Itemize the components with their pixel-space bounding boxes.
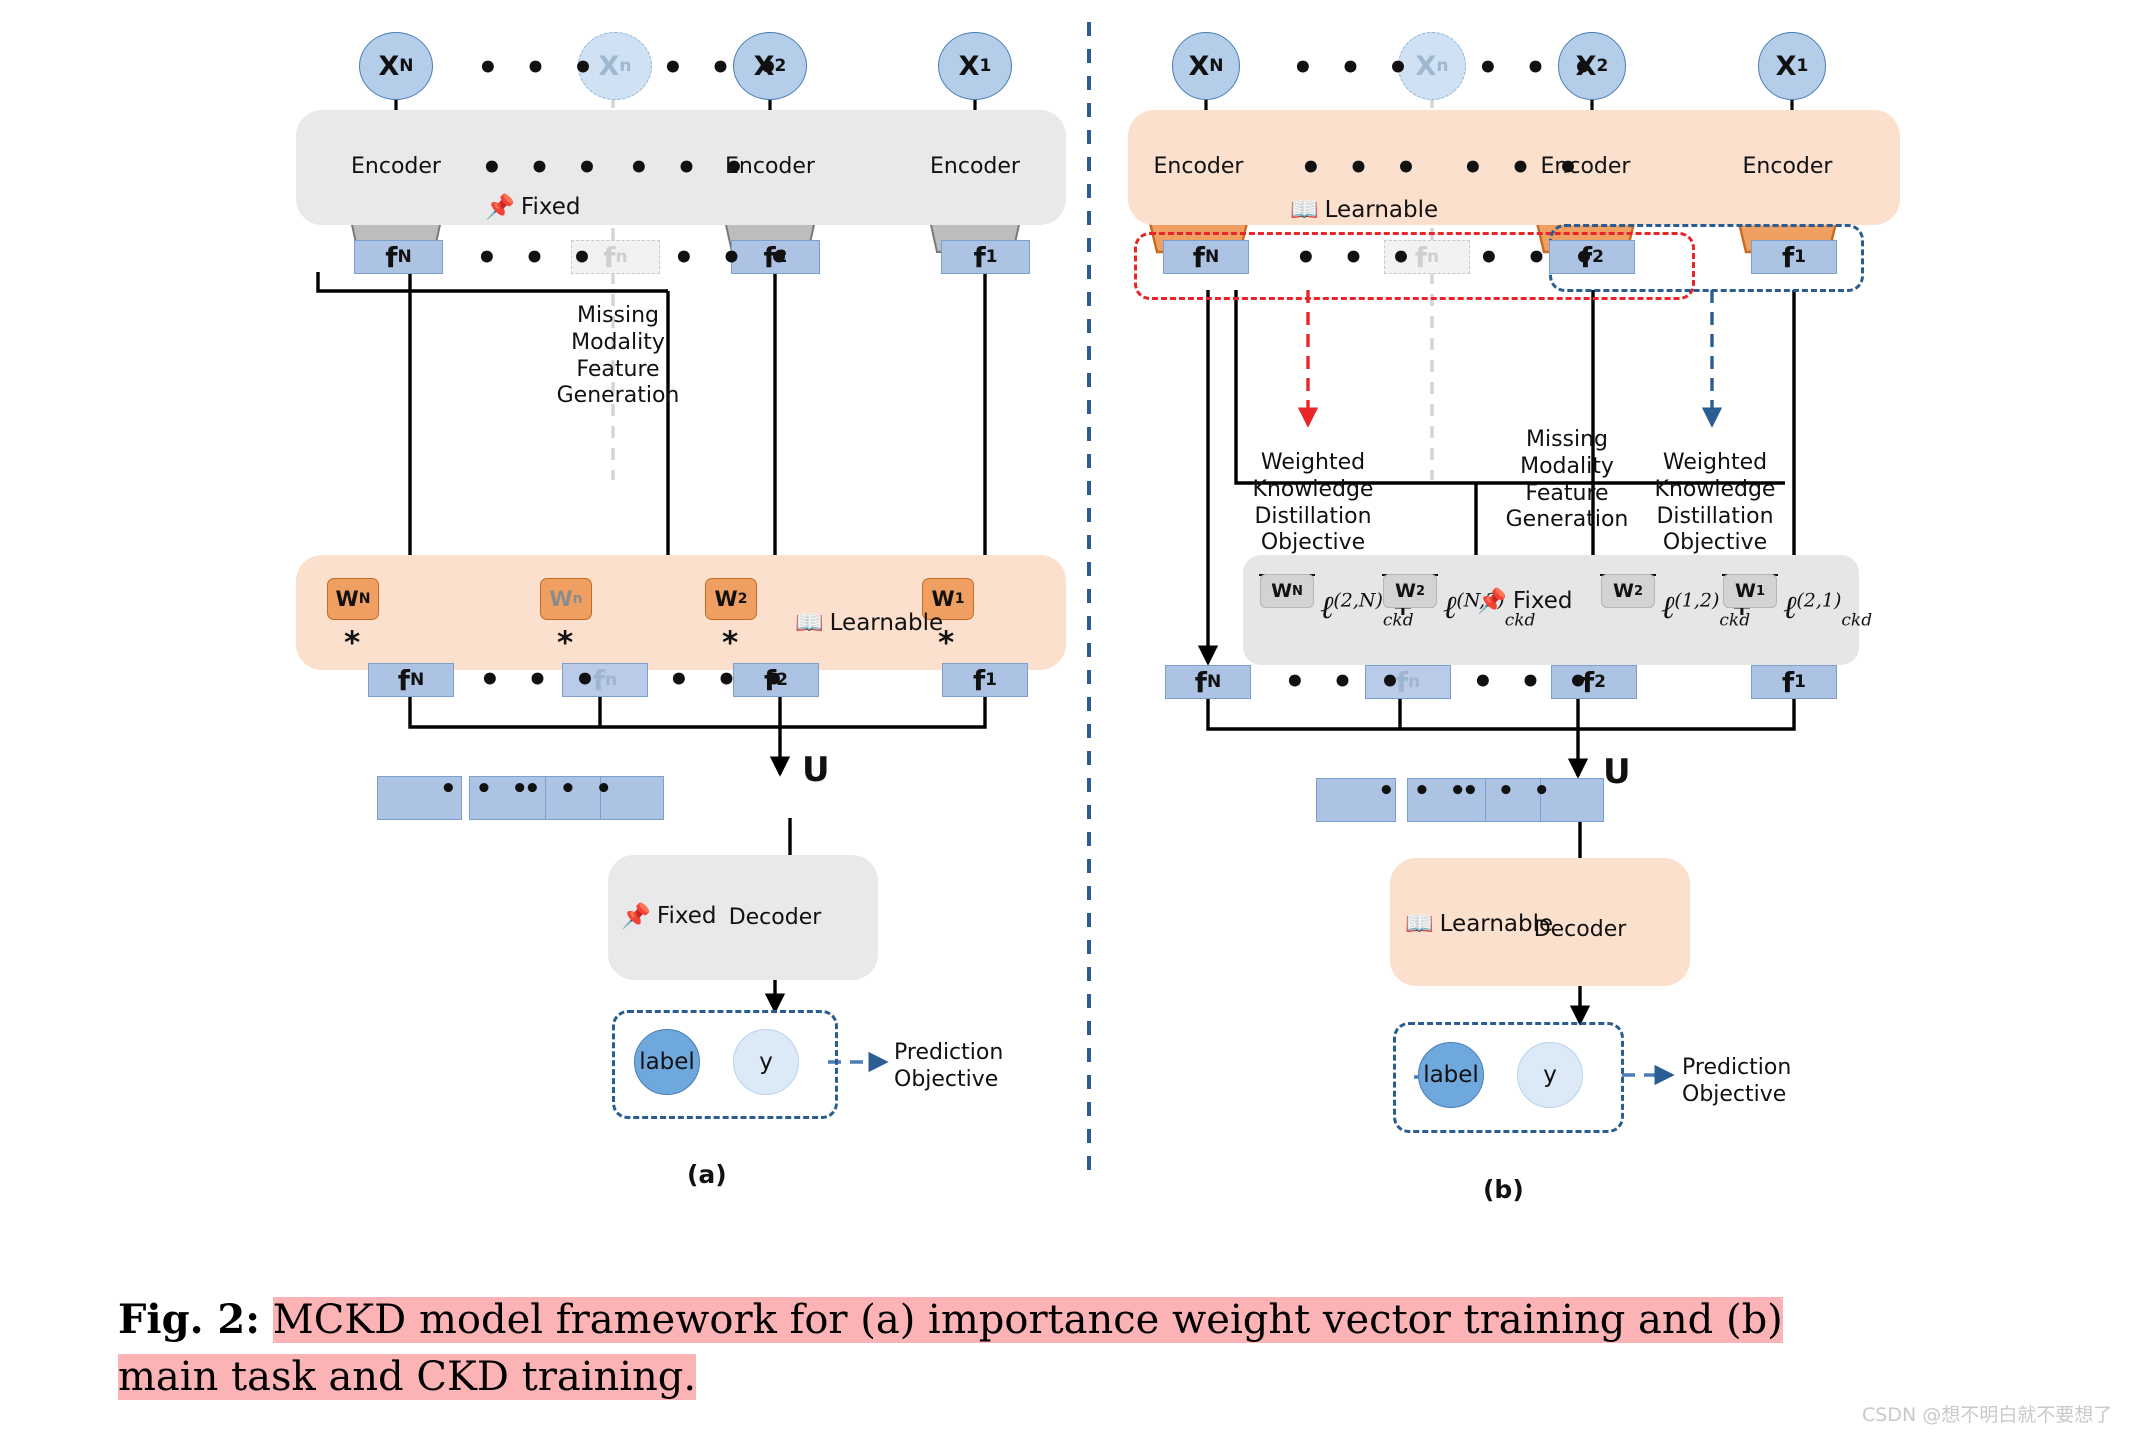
feature-box-f1-top-b[interactable]: f1 [1751, 240, 1837, 274]
loss-den-left-1: WN [1260, 574, 1314, 608]
input-circle-xn-b[interactable]: XN [1172, 32, 1240, 100]
book-icon: 📖 [1290, 196, 1319, 223]
pin-icon: 📌 [621, 902, 651, 930]
input-circle-x1-a[interactable]: X1 [938, 32, 1012, 100]
wkd-label-right-b: Weighted Knowledge Distillation Objectiv… [1640, 450, 1790, 557]
input-circle-xn-a[interactable]: XN [359, 32, 433, 100]
fixed-badge-encoder-a: 📌 Fixed [485, 193, 581, 221]
fusion-symbol-b: U [1603, 752, 1631, 792]
encoder-label-n-a: Encoder [334, 154, 458, 181]
feature-box-f1-bottom-b[interactable]: f1 [1751, 665, 1837, 699]
encoder-label-1-a: Encoder [913, 154, 1037, 181]
ellipsis-inputs-left-b: • • • [1292, 48, 1416, 88]
ellipsis-encoders-left-a: • • • [481, 148, 605, 188]
input-label-xn-ghost-a: X [599, 51, 620, 82]
ellipsis-fusion-left-a: • • • [440, 774, 533, 804]
ellipsis-features-left-a: • • • [476, 238, 600, 278]
ellipsis-fusion-left-b: • • • [1378, 776, 1471, 806]
learnable-badge-decoder-label-b: Learnable [1440, 911, 1554, 937]
fusion-symbol-a: U [802, 750, 830, 790]
output-circle-y-a[interactable]: y [733, 1029, 799, 1095]
caption-prefix: Fig. 2: [118, 1296, 260, 1343]
panel-label-a: (a) [687, 1160, 727, 1189]
weight-chip-wn-ghost-a[interactable]: Wn [540, 578, 592, 620]
ellipsis-encoders-right-a: • • • [628, 148, 752, 188]
learnable-badge-encoder-label-b: Learnable [1325, 197, 1439, 223]
ellipsis-bottom-left-b: • • • [1284, 662, 1408, 702]
ellipsis-encoders-right-b: • • • [1462, 148, 1586, 188]
input-label-xn-a: X [378, 51, 399, 82]
output-circle-y-b[interactable]: y [1517, 1042, 1583, 1108]
loss-den-right-1: W2 [1601, 574, 1655, 608]
feature-box-f1-bottom-a[interactable]: f1 [942, 663, 1028, 697]
input-label-x1-a: X [959, 51, 980, 82]
loss-fraction-right-2: W2 W1 [1722, 574, 1778, 576]
ellipsis-inputs-left-a: • • • [477, 48, 601, 88]
input-circle-x1-b[interactable]: X1 [1758, 32, 1826, 100]
multiply-star-ghost-a: * [557, 625, 573, 661]
learnable-badge-decoder-b: 📖 Learnable [1405, 910, 1553, 937]
decoder-label-a: Decoder [700, 905, 850, 932]
pin-icon: 📌 [485, 193, 515, 221]
output-circle-label-a[interactable]: label [634, 1029, 700, 1095]
ellipsis-inputs-right-a: • • • [662, 48, 786, 88]
loss-den-right-2: W1 [1723, 574, 1777, 608]
ellipsis-features-right-b: • • • [1478, 238, 1602, 278]
ellipsis-features-right-a: • • • [673, 238, 797, 278]
ellipsis-features-left-b: • • • [1295, 238, 1419, 278]
figure-caption: Fig. 2: MCKD model framework for (a) imp… [118, 1292, 2038, 1406]
ellipsis-inputs-right-b: • • • [1477, 48, 1601, 88]
ellipsis-bottom-left-a: • • • [479, 660, 603, 700]
fixed-badge-decoder-a: 📌 Fixed [621, 902, 717, 930]
book-icon: 📖 [795, 609, 824, 636]
ellipsis-bottom-right-a: • • • [668, 660, 792, 700]
feature-box-fn-top-a[interactable]: fN [354, 240, 443, 274]
feature-box-fn-bottom-a[interactable]: fN [368, 663, 454, 697]
multiply-star-n-a: * [344, 625, 360, 661]
ellipsis-fusion-right-b: • • • [1462, 776, 1555, 806]
learnable-badge-weights-a: 📖 Learnable [795, 609, 943, 636]
learnable-badge-encoder-b: 📖 Learnable [1290, 196, 1438, 223]
loss-fraction-right-1: W1 W2 [1600, 574, 1656, 576]
prediction-objective-label-a: Prediction Objective [894, 1040, 1003, 1094]
weight-chip-w2-a[interactable]: W2 [705, 578, 757, 620]
feature-box-fn-top-b[interactable]: fN [1163, 240, 1249, 274]
loss-ell-right-2: ℓ(2,1)ckd [1783, 588, 1872, 630]
fixed-badge-label-a: Fixed [521, 194, 581, 220]
mmfg-label-b: Missing Modality Feature Generation [1492, 427, 1642, 534]
prediction-objective-label-b: Prediction Objective [1682, 1055, 1791, 1109]
mmfg-label-a: Missing Modality Feature Generation [543, 303, 693, 410]
book-icon: 📖 [1405, 910, 1434, 937]
feature-box-fn-bottom-b[interactable]: fN [1165, 665, 1251, 699]
loss-fraction-left-1: W2 WN [1259, 574, 1315, 576]
feature-box-f1-top-a[interactable]: f1 [941, 240, 1030, 274]
pin-icon: 📌 [1477, 587, 1507, 615]
caption-line-2: main task and CKD training. [118, 1354, 696, 1400]
weight-chip-wn-a[interactable]: WN [327, 578, 379, 620]
fixed-badge-decoder-label-a: Fixed [657, 903, 717, 929]
wkd-label-left-b: Weighted Knowledge Distillation Objectiv… [1238, 450, 1388, 557]
loss-den-left-2: W2 [1383, 574, 1437, 608]
fixed-badge-loss-label-b: Fixed [1513, 588, 1573, 614]
output-circle-label-b[interactable]: label [1418, 1042, 1484, 1108]
caption-line-1: MCKD model framework for (a) importance … [273, 1297, 1783, 1343]
loss-fraction-left-2: WN W2 [1382, 574, 1438, 576]
multiply-star-2-a: * [722, 625, 738, 661]
ellipsis-bottom-right-b: • • • [1472, 662, 1596, 702]
figure-root: XN Xn X2 X1 • • • • • • Encoder Encoder … [0, 0, 2142, 1442]
encoder-label-n-b: Encoder [1131, 154, 1266, 181]
fixed-badge-loss-b: 📌 Fixed [1477, 587, 1573, 615]
watermark: CSDN @想不明白就不要想了 [1862, 1400, 2112, 1427]
encoder-label-1-b: Encoder [1720, 154, 1855, 181]
panel-label-b: (b) [1483, 1175, 1524, 1204]
ellipsis-fusion-right-a: • • • [524, 774, 617, 804]
ellipsis-encoders-left-b: • • • [1300, 148, 1424, 188]
learnable-badge-label-a: Learnable [830, 610, 944, 636]
